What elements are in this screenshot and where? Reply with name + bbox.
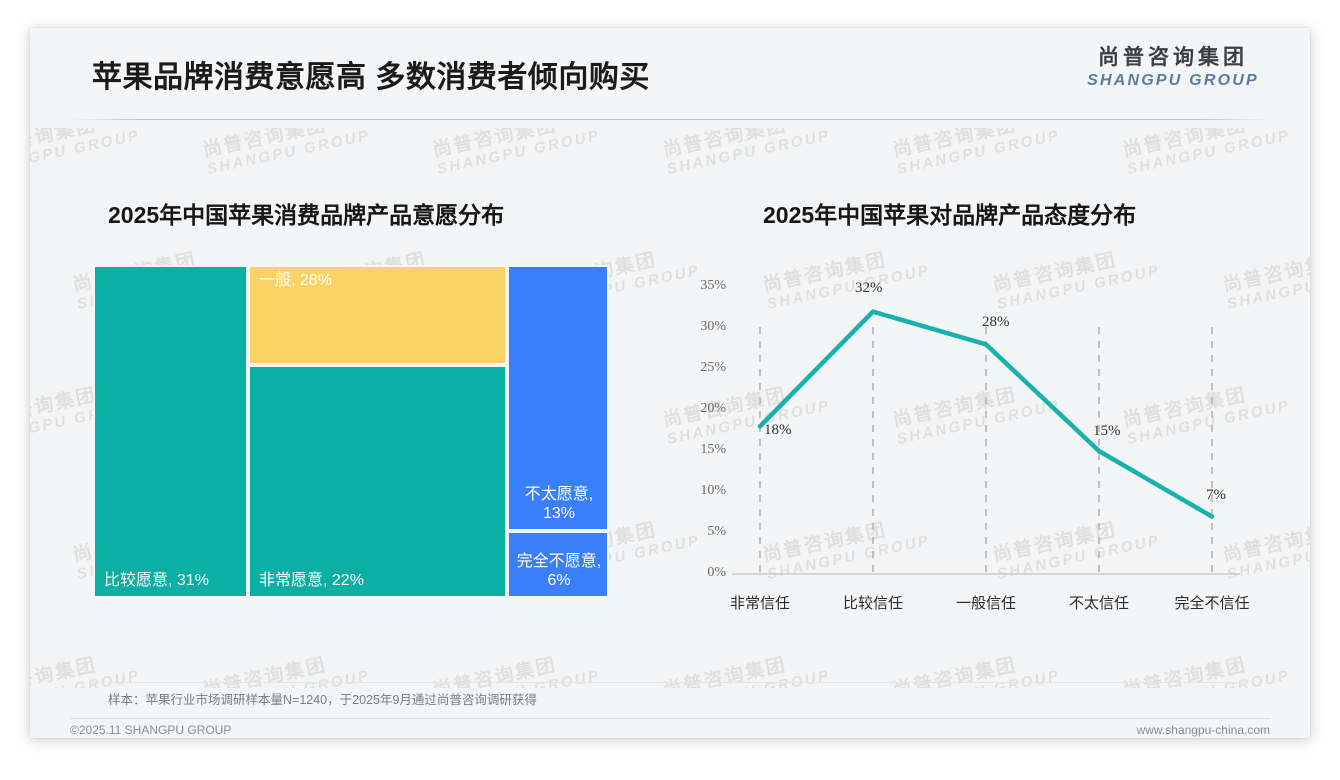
data-point-label: 18% bbox=[764, 422, 792, 439]
y-axis-tick-label: 35% bbox=[680, 278, 726, 294]
header-divider bbox=[70, 119, 1270, 120]
watermark: 尚普咨询集团SHANGPU GROUP bbox=[30, 128, 142, 178]
watermark: 尚普咨询集团SHANGPU GROUP bbox=[200, 641, 372, 688]
treemap-tile-label: 不太愿意, 13% bbox=[515, 485, 603, 523]
logo-english-text: SHANGPU GROUP bbox=[1078, 71, 1268, 90]
y-axis-tick-label: 5% bbox=[680, 524, 726, 540]
watermark: 尚普咨询集团SHANGPU GROUP bbox=[890, 128, 1062, 178]
line-chart-svg bbox=[650, 265, 1250, 625]
y-axis-tick-label: 25% bbox=[680, 360, 726, 376]
footer-divider bbox=[70, 718, 1270, 719]
watermark: 尚普咨询集团SHANGPU GROUP bbox=[1120, 128, 1292, 178]
slide-card: 苹果品牌消费意愿高 多数消费者倾向购买 尚普咨询集团 SHANGPU GROUP… bbox=[30, 28, 1310, 738]
x-axis-tick-label: 比较信任 bbox=[813, 592, 933, 613]
watermark: 尚普咨询集团SHANGPU GROUP bbox=[660, 641, 832, 688]
watermark: 尚普咨询集团SHANGPU GROUP bbox=[430, 641, 602, 688]
y-axis-tick-label: 15% bbox=[680, 442, 726, 458]
copyright-text: ©2025.11 SHANGPU GROUP bbox=[70, 723, 231, 737]
treemap-tile-非常愿意[interactable]: 非常愿意, 22% bbox=[248, 365, 507, 598]
watermark: 尚普咨询集团SHANGPU GROUP bbox=[660, 128, 832, 178]
treemap-tile-完全不愿意[interactable]: 完全不愿意, 6% bbox=[507, 531, 609, 598]
left-chart-title: 2025年中国苹果消费品牌产品意愿分布 bbox=[108, 196, 504, 230]
brand-logo: 尚普咨询集团 SHANGPU GROUP bbox=[1078, 46, 1268, 90]
logo-chinese-text: 尚普咨询集团 bbox=[1078, 46, 1268, 70]
treemap-tile-一般[interactable]: 一般, 28% bbox=[248, 265, 507, 365]
data-point-label: 15% bbox=[1093, 423, 1121, 440]
x-axis-tick-label: 完全不信任 bbox=[1152, 592, 1272, 613]
line-chart: 35%30%25%20%15%10%5%0%非常信任比较信任一般信任不太信任完全… bbox=[650, 265, 1250, 625]
right-chart-title: 2025年中国苹果对品牌产品态度分布 bbox=[763, 196, 1136, 230]
treemap-chart: 比较愿意, 31%一般, 28%非常愿意, 22%不太愿意, 13%完全不愿意,… bbox=[93, 265, 609, 598]
page-title: 苹果品牌消费意愿高 多数消费者倾向购买 bbox=[92, 52, 650, 96]
watermark: 尚普咨询集团SHANGPU GROUP bbox=[1120, 641, 1292, 688]
y-axis-tick-label: 30% bbox=[680, 319, 726, 335]
data-point-label: 7% bbox=[1206, 487, 1226, 504]
watermark: 尚普咨询集团SHANGPU GROUP bbox=[890, 641, 1062, 688]
data-point-label: 32% bbox=[855, 280, 883, 297]
treemap-tile-label: 比较愿意, 31% bbox=[104, 571, 240, 590]
treemap-tile-label: 非常愿意, 22% bbox=[259, 571, 499, 590]
treemap-tile-不太愿意[interactable]: 不太愿意, 13% bbox=[507, 265, 609, 531]
y-axis-tick-label: 10% bbox=[680, 483, 726, 499]
x-axis-tick-label: 非常信任 bbox=[700, 592, 820, 613]
y-axis-tick-label: 20% bbox=[680, 401, 726, 417]
slide-header: 苹果品牌消费意愿高 多数消费者倾向购买 尚普咨询集团 SHANGPU GROUP bbox=[30, 28, 1310, 120]
footnote-divider bbox=[92, 682, 1247, 683]
footnote-text: 样本：苹果行业市场调研样本量N=1240，于2025年9月通过尚普咨询调研获得 bbox=[108, 689, 537, 708]
watermark: 尚普咨询集团SHANGPU GROUP bbox=[430, 128, 602, 178]
treemap-tile-label: 一般, 28% bbox=[259, 271, 499, 290]
x-axis-tick-label: 一般信任 bbox=[926, 592, 1046, 613]
x-axis-tick-label: 不太信任 bbox=[1039, 592, 1159, 613]
website-link[interactable]: www.shangpu-china.com bbox=[1137, 723, 1270, 737]
data-point-label: 28% bbox=[982, 314, 1010, 331]
y-axis-tick-label: 0% bbox=[680, 565, 726, 581]
slide-footer: ©2025.11 SHANGPU GROUP www.shangpu-china… bbox=[30, 718, 1310, 738]
treemap-tile-比较愿意[interactable]: 比较愿意, 31% bbox=[93, 265, 248, 598]
watermark: 尚普咨询集团SHANGPU GROUP bbox=[200, 128, 372, 178]
treemap-tile-label: 完全不愿意, 6% bbox=[515, 552, 603, 590]
watermark: 尚普咨询集团SHANGPU GROUP bbox=[30, 641, 142, 688]
